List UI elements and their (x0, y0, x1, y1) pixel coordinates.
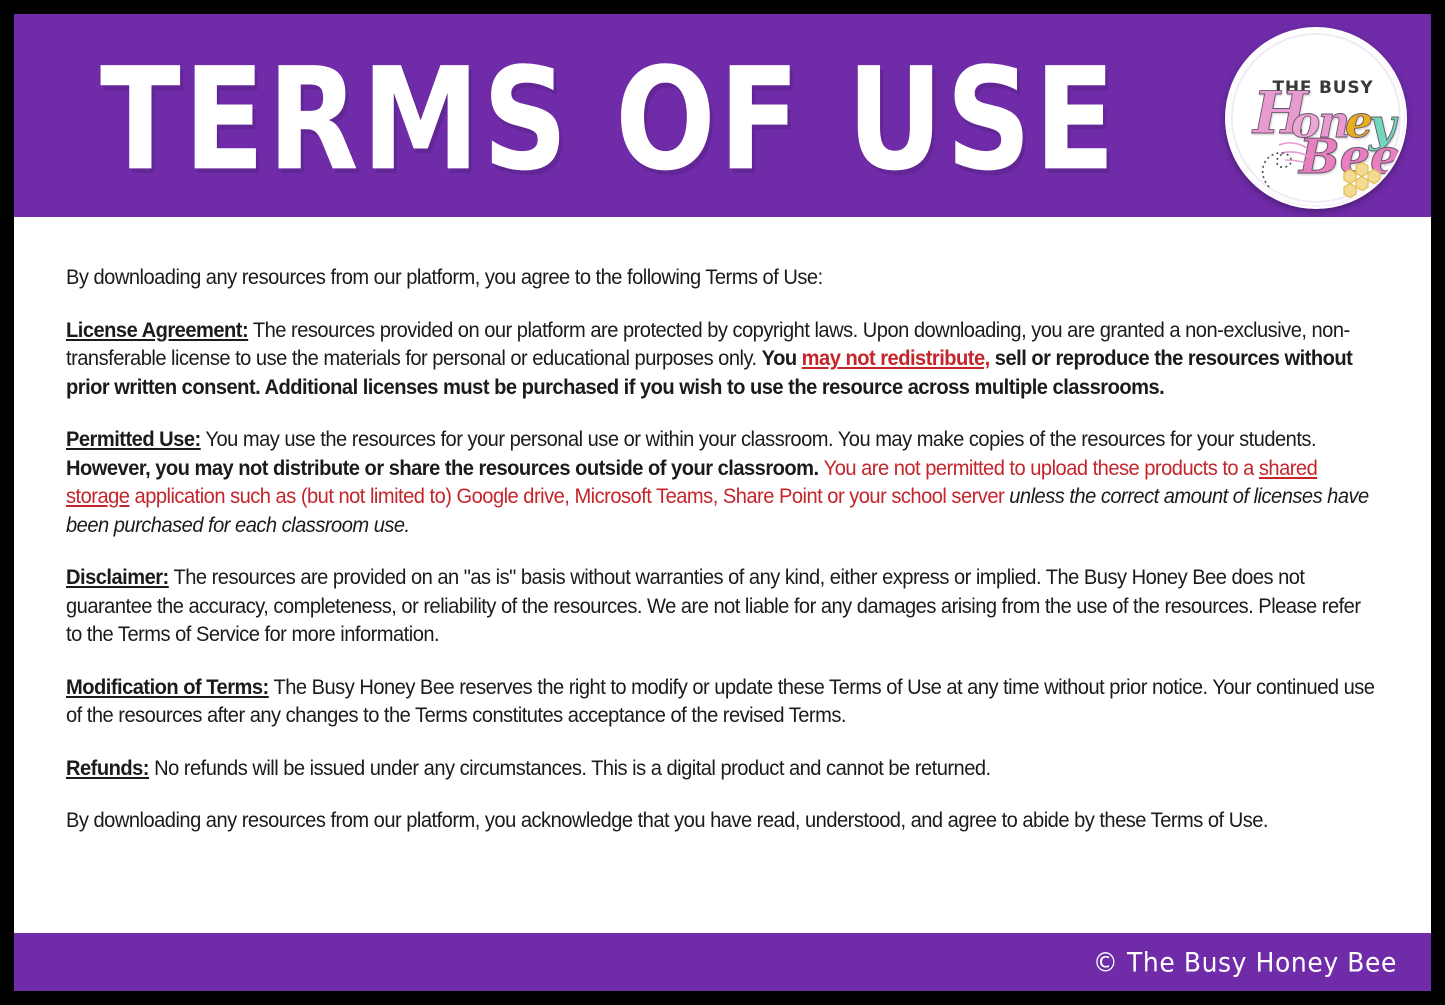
intro-text: By downloading any resources from our pl… (66, 265, 823, 289)
refunds-text-1: No refunds will be issued under any circ… (149, 756, 991, 780)
permitted-text-1: You may use the resources for your perso… (201, 427, 1316, 451)
copyright-text: © The Busy Honey Bee (1093, 947, 1397, 978)
section-heading-disclaimer: Disclaimer: (66, 565, 169, 589)
document-sheet: TERMS OF USE THE BUSY H o (14, 14, 1431, 991)
section-heading-license: License Agreement: (66, 318, 248, 342)
permitted-bold-1: However, you may not distribute or share… (66, 456, 824, 480)
header-banner: TERMS OF USE THE BUSY H o (14, 14, 1431, 217)
page-title: TERMS OF USE (100, 50, 1118, 192)
section-heading-modification: Modification of Terms: (66, 675, 269, 699)
intro-paragraph: By downloading any resources from our pl… (66, 263, 1380, 292)
permitted-red-2: application such as (but not limited to)… (129, 484, 1009, 508)
document-page: TERMS OF USE THE BUSY H o (0, 0, 1445, 1005)
license-red-underline: may not redistribute, (802, 346, 990, 370)
section-modification-of-terms: Modification of Terms: The Busy Honey Be… (66, 673, 1380, 730)
permitted-red-1: You are not permitted to upload these pr… (824, 456, 1259, 480)
section-permitted-use: Permitted Use: You may use the resources… (66, 425, 1380, 539)
section-heading-refunds: Refunds: (66, 756, 149, 780)
section-license-agreement: License Agreement: The resources provide… (66, 316, 1380, 402)
section-heading-permitted: Permitted Use: (66, 427, 201, 451)
section-refunds: Refunds: No refunds will be issued under… (66, 754, 1380, 783)
honey-bee-logo-icon: THE BUSY H o n e y Bee (1227, 29, 1405, 207)
section-disclaimer: Disclaimer: The resources are provided o… (66, 563, 1380, 649)
closing-text: By downloading any resources from our pl… (66, 808, 1268, 832)
disclaimer-text-1: The resources are provided on an "as is"… (66, 565, 1361, 646)
brand-logo: THE BUSY H o n e y Bee (1225, 27, 1407, 209)
footer-banner: © The Busy Honey Bee (14, 933, 1431, 991)
closing-paragraph: By downloading any resources from our pl… (66, 806, 1380, 835)
terms-body: By downloading any resources from our pl… (14, 217, 1431, 933)
license-bold-1: You (762, 346, 802, 370)
